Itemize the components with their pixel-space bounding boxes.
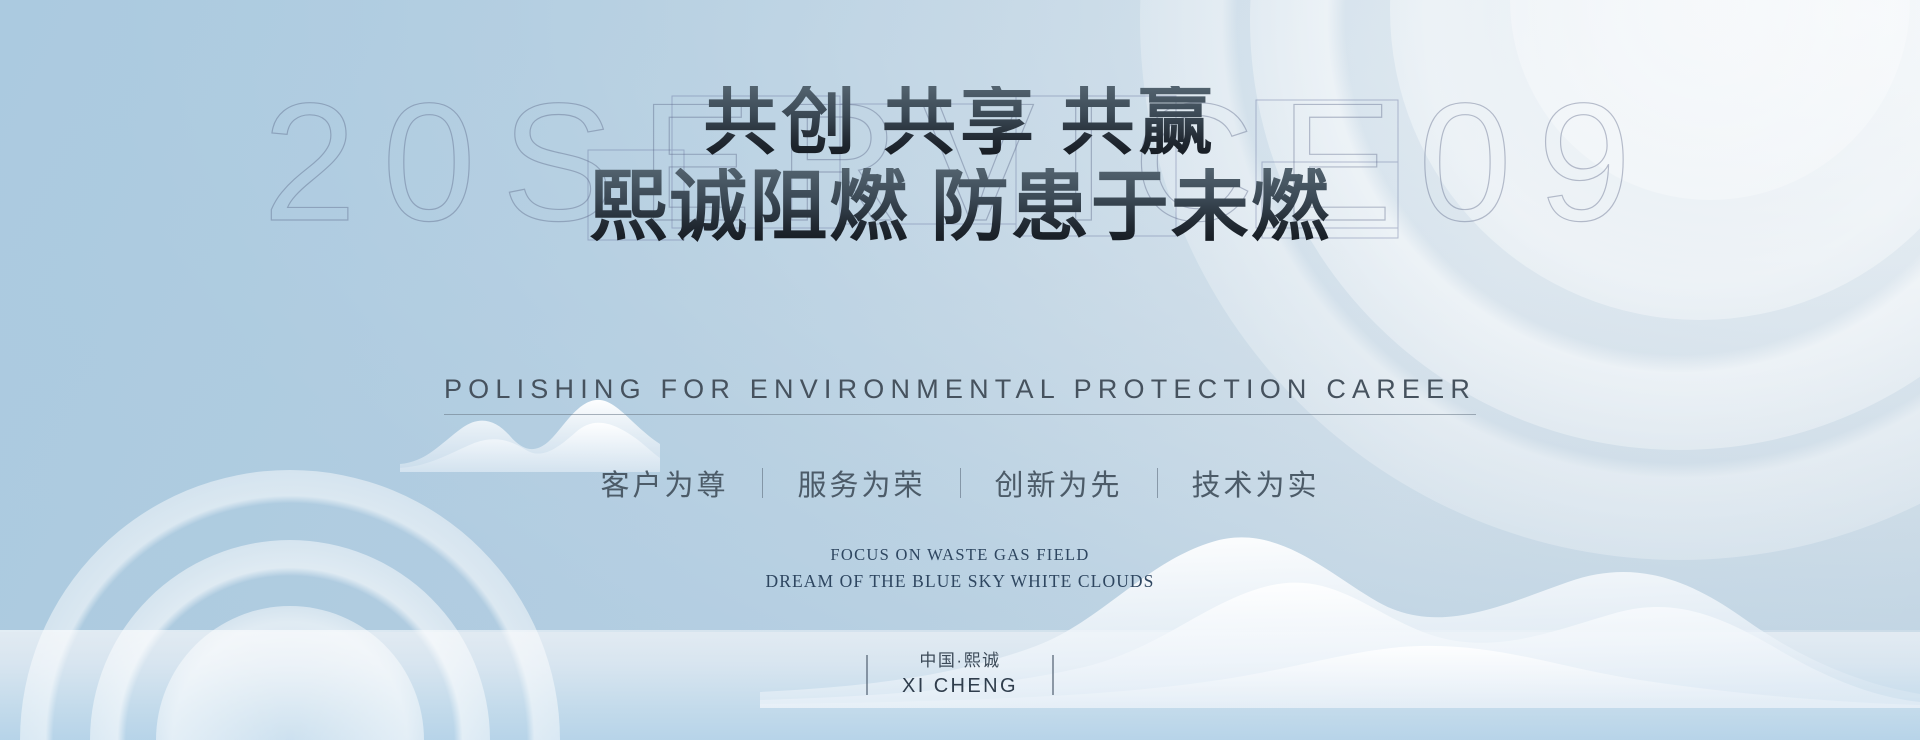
value-item-1: 客户为尊 [566, 462, 762, 504]
horizon-divider [0, 630, 1920, 632]
logo-text-block: 中国·熙诚 XI CHENG [902, 650, 1018, 700]
logo-lockup: 中国·熙诚 XI CHENG [0, 650, 1920, 700]
promo-banner: 20SERVICE09 [0, 0, 1920, 740]
logo-left-bar [866, 655, 868, 695]
value-row: 客户为尊 服务为荣 创新为先 技术为实 [0, 462, 1920, 504]
english-slogan-text: POLISHING FOR ENVIRONMENTAL PROTECTION C… [444, 374, 1476, 415]
value-item-2: 服务为荣 [763, 462, 959, 504]
english-slogan: POLISHING FOR ENVIRONMENTAL PROTECTION C… [0, 374, 1920, 415]
background-tint-overlay [0, 0, 1920, 740]
value-item-3: 创新为先 [961, 462, 1157, 504]
logo-chinese-name: 中国·熙诚 [902, 650, 1018, 673]
logo-right-bar [1052, 655, 1054, 695]
value-item-4: 技术为实 [1158, 462, 1354, 504]
logo-english-name: XI CHENG [902, 673, 1018, 700]
